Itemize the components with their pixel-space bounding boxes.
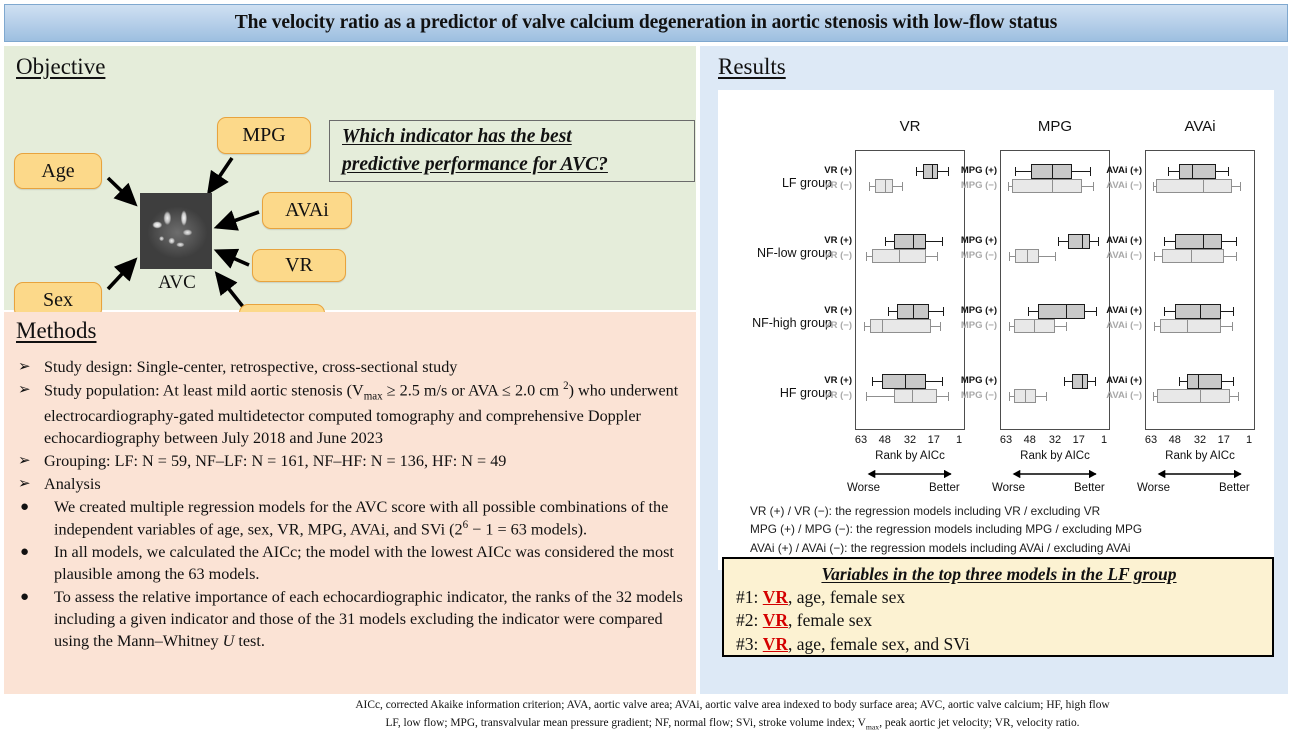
boxplot-whisker-cap-high [940,322,941,330]
boxplot-whisker-cap-low [1153,392,1154,400]
abbreviations-footnote: AICc, corrected Akaike information crite… [180,697,1285,733]
boxplot-median-line [1200,389,1201,403]
boxplot-whisker-cap-high [1090,167,1091,176]
chart-series-tag-mpg-plus: MPG (+) [943,305,997,316]
chart-direction-arrow-icon [1000,466,1110,482]
boxplot-whisker-cap-low [864,322,865,330]
rank-label: #2: [736,610,763,630]
dot-bullet-icon: ● [18,586,54,607]
objective-panel: Objective Which indicator has the best p… [4,46,696,310]
top-models-title: Variables in the top three models in the… [736,564,1262,585]
research-question-box: Which indicator has the best predictive … [329,120,695,182]
chart-legend-line: AVAi (+) / AVAi (−): the regression mode… [750,539,1260,557]
chart-series-tag-avai-minus: AVAi (−) [1088,390,1142,401]
chart-series-tag-vr-minus: VR (−) [798,320,852,331]
boxplot-iqr-box [1068,234,1090,249]
boxplot-whisker-cap-low [1009,392,1010,400]
dot-bullet-icon: ● [18,541,54,562]
methods-item-text: Study population: At least mild aortic s… [44,379,690,449]
boxplot-whisker-cap-low [885,237,886,246]
research-question-line-1: Which indicator has the best [342,123,686,151]
avc-ct-image [140,193,212,269]
footnote-line-2: LF, low flow; MPG, transvalvular mean pr… [180,715,1285,733]
chart-series-tag-mpg-minus: MPG (−) [943,250,997,261]
chart-x-tick: 48 [871,434,899,446]
chart-legend-line: VR (+) / VR (−): the regression models i… [750,502,1260,520]
boxplot-median-line [1187,319,1188,333]
variable-pill-avai[interactable]: AVAi [262,192,352,229]
boxplot-median-line [1082,234,1083,249]
chart-x-tick: 1 [945,434,973,446]
chart-x-tick: 48 [1161,434,1189,446]
boxplot-iqr-box [894,234,926,249]
chart-series-tag-avai-plus: AVAi (+) [1088,375,1142,386]
chart-x-tick: 1 [1090,434,1118,446]
methods-item: ➢Analysis [18,473,690,495]
boxplot-median-line [1192,164,1193,179]
boxplot-median-line [882,319,883,333]
arrow-bullet-icon: ➢ [18,473,44,494]
boxplot-whisker-cap-high [1233,307,1234,316]
boxplot-median-line [1203,179,1204,193]
boxplot-whisker-cap-high [1236,252,1237,260]
methods-item: ➢Study population: At least mild aortic … [18,379,690,449]
boxplot-whisker-cap-low [1009,322,1010,330]
arrow-svi-to-avc [217,274,244,308]
boxplot-whisker-cap-high [1066,322,1067,330]
chart-series-tag-vr-plus: VR (+) [798,305,852,316]
chart-direction-label-worse: Worse [992,482,1025,494]
boxplot-median-line [1198,374,1199,389]
avc-image-caption: AVC [135,272,219,294]
chart-series-tag-vr-plus: VR (+) [798,235,852,246]
chart-series-tag-vr-plus: VR (+) [798,375,852,386]
methods-item-text: Analysis [44,473,690,495]
boxplot-whisker-cap-low [869,182,870,190]
chart-series-tag-mpg-minus: MPG (−) [943,320,997,331]
methods-item-text: To assess the relative importance of eac… [54,586,690,652]
boxplot-median-line [932,164,933,179]
top-models-box: Variables in the top three models in the… [722,557,1274,657]
boxplot-whisker-cap-low [866,392,867,400]
chart-panel-title-avai: AVAi [1145,118,1255,135]
boxplot-median-line [1066,304,1067,319]
boxplot-median-line [899,249,900,263]
boxplot-median-line [912,389,913,403]
boxplot-whisker-cap-low [1064,377,1065,386]
boxplot-whisker-cap-low [916,167,917,176]
boxplot-median-line [1200,304,1201,319]
boxplot-median-line [1052,164,1053,179]
boxplot-iqr-box [894,389,937,403]
boxplot-iqr-box [1162,249,1224,263]
boxplot-median-line [913,234,914,249]
arrow-vr-to-avc [217,251,249,265]
objective-heading: Objective [16,54,105,80]
chart-series-tag-vr-minus: VR (−) [798,390,852,401]
chart-series-tag-avai-plus: AVAi (+) [1088,165,1142,176]
boxplot-iqr-box [923,164,939,179]
model-variables: , age, female sex [788,587,905,607]
boxplot-median-line [905,374,906,389]
highlighted-variable-vr: VR [763,634,788,654]
methods-item-text: Study design: Single-center, retrospecti… [44,356,690,378]
boxplot-whisker-cap-low [1015,167,1016,176]
methods-item: ●In all models, we calculated the AICc; … [18,541,690,585]
boxplot-iqr-box [870,319,930,333]
methods-item: ●We created multiple regression models f… [18,496,690,540]
chart-direction-arrow-icon [1145,466,1255,482]
page-title: The velocity ratio as a predictor of val… [235,12,1058,34]
variable-pill-vr[interactable]: VR [252,249,346,282]
boxplot-iqr-box [1175,234,1222,249]
boxplot-median-line [1027,249,1028,263]
boxplot-iqr-box [1187,374,1222,389]
boxplot-whisker-cap-low [1154,252,1155,260]
boxplot-iqr-box [1157,389,1230,403]
chart-x-axis-label: Rank by AICc [1000,450,1110,462]
boxplot-whisker-cap-high [948,392,949,400]
boxplot-whisker-cap-high [942,377,943,386]
chart-series-tag-mpg-plus: MPG (+) [943,235,997,246]
arrow-age-to-avc [108,178,135,204]
top-model-line: #1: VR, age, female sex [736,586,1262,609]
top-model-line: #2: VR, female sex [736,609,1262,632]
arrow-bullet-icon: ➢ [18,356,44,377]
variable-pill-age[interactable]: Age [14,153,102,189]
boxplot-median-line [1203,234,1204,249]
chart-panel-title-mpg: MPG [1000,118,1110,135]
methods-item-text: Grouping: LF: N = 59, NF–LF: N = 161, NF… [44,450,690,472]
chart-direction-label-better: Better [1219,482,1250,494]
chart-direction-label-better: Better [929,482,960,494]
boxplot-whisker-cap-high [943,307,944,316]
boxplot-whisker-cap-high [1055,252,1056,260]
arrow-bullet-icon: ➢ [18,379,44,400]
methods-item: ➢Grouping: LF: N = 59, NF–LF: N = 161, N… [18,450,690,472]
top-model-line: #3: VR, age, female sex, and SVi [736,633,1262,656]
boxplot-whisker-cap-low [1164,237,1165,246]
boxplot-iqr-box [1072,374,1088,389]
boxplot-median-line [1082,374,1083,389]
dot-bullet-icon: ● [18,496,54,517]
boxplot-whisker-cap-low [1008,182,1009,190]
boxplot-whisker-cap-high [1232,322,1233,330]
chart-series-tag-vr-plus: VR (+) [798,165,852,176]
boxplot-median-line [1191,249,1192,263]
variable-pill-mpg[interactable]: MPG [217,117,311,154]
poster-title-bar: The velocity ratio as a predictor of val… [4,4,1288,42]
boxplot-whisker-cap-low [888,307,889,316]
top-models-list: #1: VR, age, female sex#2: VR, female se… [736,586,1262,656]
boxplot-whisker-cap-low [1168,167,1169,176]
boxplot-median-line [1025,389,1026,403]
chart-series-tag-avai-minus: AVAi (−) [1088,180,1142,191]
chart-x-axis-label: Rank by AICc [855,450,965,462]
boxplot-median-line [913,304,914,319]
research-question-line-2: predictive performance for AVC? [342,151,686,179]
boxplot-chart: VRMPGAVAiLF groupNF-low groupNF-high gro… [718,90,1274,570]
arrow-mpg-to-avc [209,158,232,192]
highlighted-variable-vr: VR [763,610,788,630]
boxplot-whisker-cap-high [1236,237,1237,246]
boxplot-whisker-cap-high [1096,307,1097,316]
chart-legend-line: MPG (+) / MPG (−): the regression models… [750,520,1260,538]
boxplot-whisker-cap-high [1228,167,1229,176]
model-variables: , female sex [788,610,872,630]
chart-direction-arrow-icon [855,466,965,482]
boxplot-whisker-cap-high [937,252,938,260]
chart-series-tag-mpg-plus: MPG (+) [943,375,997,386]
chart-series-tag-mpg-minus: MPG (−) [943,180,997,191]
boxplot-whisker-cap-high [902,182,903,190]
results-heading: Results [718,54,786,80]
chart-direction-label-worse: Worse [847,482,880,494]
boxplot-whisker-cap-high [1238,392,1239,400]
boxplot-iqr-box [1175,304,1221,319]
boxplot-median-line [885,179,886,193]
boxplot-whisker-cap-low [1153,182,1154,190]
boxplot-whisker-cap-low [1179,377,1180,386]
boxplot-iqr-box [1179,164,1215,179]
chart-x-tick: 17 [1065,434,1093,446]
boxplot-whisker-cap-low [1164,307,1165,316]
chart-x-tick: 48 [1016,434,1044,446]
boxplot-whisker-cap-low [1028,307,1029,316]
model-variables: , age, female sex, and SVi [788,634,970,654]
boxplot-whisker-cap-high [948,167,949,176]
chart-x-tick: 17 [1210,434,1238,446]
boxplot-whisker-cap-high [1046,392,1047,400]
boxplot-whisker-cap-high [1093,182,1094,190]
highlighted-variable-vr: VR [763,587,788,607]
arrow-sex-to-avc [108,260,135,289]
chart-x-axis-label: Rank by AICc [1145,450,1255,462]
chart-x-tick: 17 [920,434,948,446]
boxplot-whisker-cap-high [942,237,943,246]
arrow-avai-to-avc [217,212,259,227]
boxplot-whisker-cap-low [1009,252,1010,260]
boxplot-whisker-cap-low [1058,237,1059,246]
chart-series-tag-mpg-plus: MPG (+) [943,165,997,176]
rank-label: #1: [736,587,763,607]
chart-series-tag-avai-minus: AVAi (−) [1088,320,1142,331]
chart-direction-label-better: Better [1074,482,1105,494]
chart-legend: VR (+) / VR (−): the regression models i… [750,502,1260,557]
boxplot-whisker-cap-low [866,252,867,260]
boxplot-iqr-box [1038,304,1085,319]
boxplot-iqr-box [1012,179,1082,193]
chart-series-tag-vr-minus: VR (−) [798,180,852,191]
boxplot-whisker-cap-high [1098,237,1099,246]
boxplot-iqr-box [1156,179,1232,193]
methods-item: ➢Study design: Single-center, retrospect… [18,356,690,378]
boxplot-median-line [1052,179,1053,193]
chart-panel-title-vr: VR [855,118,965,135]
boxplot-whisker-cap-high [1095,377,1096,386]
chart-direction-label-worse: Worse [1137,482,1170,494]
methods-list: ➢Study design: Single-center, retrospect… [18,356,690,653]
methods-item: ●To assess the relative importance of ea… [18,586,690,652]
footnote-line-1: AICc, corrected Akaike information crite… [180,697,1285,715]
boxplot-median-line [1034,319,1035,333]
methods-item-text: In all models, we calculated the AICc; t… [54,541,690,585]
boxplot-iqr-box [1160,319,1220,333]
boxplot-iqr-box [882,374,926,389]
boxplot-whisker-cap-high [1240,182,1241,190]
boxplot-whisker-cap-high [1233,377,1234,386]
chart-series-tag-vr-minus: VR (−) [798,250,852,261]
methods-panel: Methods ➢Study design: Single-center, re… [4,312,696,694]
chart-x-tick: 1 [1235,434,1263,446]
poster-root: The velocity ratio as a predictor of val… [0,0,1292,741]
boxplot-whisker-cap-low [872,377,873,386]
methods-item-text: We created multiple regression models fo… [54,496,690,540]
boxplot-whisker-cap-low [1154,322,1155,330]
chart-series-tag-mpg-minus: MPG (−) [943,390,997,401]
rank-label: #3: [736,634,763,654]
methods-heading: Methods [16,318,97,344]
chart-series-tag-avai-minus: AVAi (−) [1088,250,1142,261]
arrow-bullet-icon: ➢ [18,450,44,471]
